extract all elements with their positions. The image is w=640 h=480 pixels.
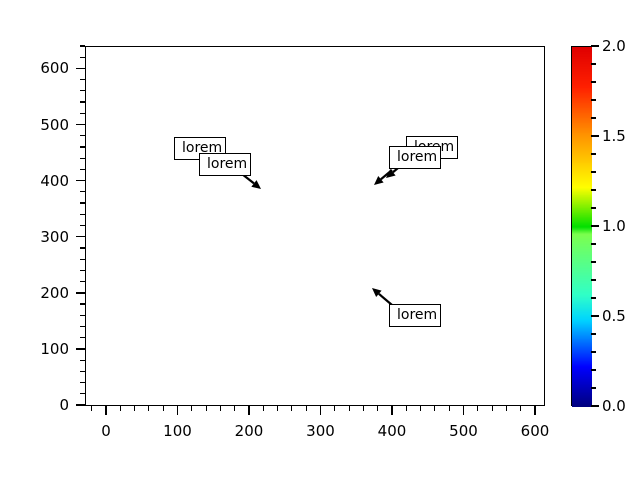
- colorbar-tick-minor: [591, 117, 596, 119]
- colorbar-tick-minor: [591, 351, 596, 353]
- y-tick-minor: [80, 303, 85, 304]
- colorbar-tick-minor: [591, 81, 596, 83]
- colorbar-tick-minor: [591, 189, 596, 191]
- x-tick-major: [177, 406, 179, 415]
- y-tick-minor: [80, 247, 85, 248]
- x-tick-minor: [134, 406, 135, 411]
- y-tick-minor: [80, 169, 85, 170]
- y-tick-minor: [80, 101, 85, 102]
- x-tick-major: [105, 406, 107, 415]
- colorbar-tick-major: [591, 45, 599, 47]
- y-tick-minor: [80, 281, 85, 282]
- colorbar-tick-label: 0.0: [602, 397, 626, 415]
- colorbar-tick-minor: [591, 261, 596, 263]
- y-tick-minor: [80, 45, 85, 46]
- y-tick-minor: [80, 382, 85, 383]
- y-tick-label: 100: [23, 340, 69, 358]
- x-tick-minor: [291, 406, 292, 411]
- x-tick-label: 300: [291, 422, 351, 440]
- x-tick-label: 0: [76, 422, 136, 440]
- y-tick-minor: [80, 225, 85, 226]
- y-tick-major: [76, 348, 85, 350]
- x-tick-minor: [120, 406, 121, 411]
- x-tick-minor: [492, 406, 493, 411]
- x-tick-major: [463, 406, 465, 415]
- x-tick-major: [391, 406, 393, 415]
- x-tick-major: [534, 406, 536, 415]
- x-tick-major: [320, 406, 322, 415]
- y-tick-label: 200: [23, 284, 69, 302]
- colorbar-tick-minor: [591, 207, 596, 209]
- x-tick-label: 600: [505, 422, 565, 440]
- y-tick-minor: [80, 315, 85, 316]
- x-tick-minor: [477, 406, 478, 411]
- colorbar-tick-minor: [591, 369, 596, 371]
- colorbar-tick-label: 1.0: [602, 217, 626, 235]
- y-tick-major: [76, 236, 85, 238]
- colorbar-tick-minor: [591, 63, 596, 65]
- y-tick-minor: [80, 113, 85, 114]
- colorbar-gradient: [572, 47, 592, 407]
- colorbar-tick-minor: [591, 153, 596, 155]
- y-tick-minor: [80, 202, 85, 203]
- x-tick-minor: [163, 406, 164, 411]
- colorbar-tick-minor: [591, 279, 596, 281]
- colorbar-tick-label: 0.5: [602, 307, 626, 325]
- y-tick-minor: [80, 79, 85, 80]
- plot-frame: [85, 46, 545, 406]
- y-tick-minor: [80, 214, 85, 215]
- x-tick-minor: [306, 406, 307, 411]
- x-tick-minor: [148, 406, 149, 411]
- x-tick-minor: [263, 406, 264, 411]
- x-tick-minor: [220, 406, 221, 411]
- figure-root: 0100200300400500600 0100200300400500600 …: [0, 0, 640, 480]
- y-tick-minor: [80, 393, 85, 394]
- x-tick-minor: [420, 406, 421, 411]
- y-tick-minor: [80, 360, 85, 361]
- annotation-callout[interactable]: lorem: [389, 304, 441, 327]
- x-tick-minor: [191, 406, 192, 411]
- x-tick-minor: [349, 406, 350, 411]
- y-tick-minor: [80, 135, 85, 136]
- y-tick-minor: [80, 90, 85, 91]
- y-tick-label: 500: [23, 116, 69, 134]
- x-tick-minor: [520, 406, 521, 411]
- y-tick-minor: [80, 337, 85, 338]
- colorbar-tick-minor: [591, 297, 596, 299]
- colorbar-tick-label: 2.0: [602, 37, 626, 55]
- colorbar-tick-label: 1.5: [602, 127, 626, 145]
- x-tick-label: 100: [148, 422, 208, 440]
- y-tick-major: [76, 292, 85, 294]
- colorbar-tick-minor: [591, 99, 596, 101]
- y-tick-minor: [80, 259, 85, 260]
- x-tick-minor: [277, 406, 278, 411]
- x-tick-minor: [206, 406, 207, 411]
- x-tick-major: [248, 406, 250, 415]
- colorbar: [571, 46, 591, 406]
- x-tick-label: 500: [434, 422, 494, 440]
- annotation-callout[interactable]: lorem: [199, 153, 251, 176]
- x-tick-minor: [449, 406, 450, 411]
- colorbar-tick-major: [591, 225, 599, 227]
- colorbar-tick-major: [591, 405, 599, 407]
- y-tick-label: 0: [23, 396, 69, 414]
- y-tick-label: 300: [23, 228, 69, 246]
- y-tick-minor: [80, 270, 85, 271]
- colorbar-tick-minor: [591, 333, 596, 335]
- x-tick-minor: [234, 406, 235, 411]
- y-tick-major: [76, 180, 85, 182]
- colorbar-tick-minor: [591, 171, 596, 173]
- annotation-callout[interactable]: lorem: [389, 146, 441, 169]
- y-tick-major: [76, 404, 85, 406]
- y-tick-minor: [80, 146, 85, 147]
- colorbar-tick-minor: [591, 387, 596, 389]
- y-tick-minor: [80, 326, 85, 327]
- colorbar-tick-major: [591, 135, 599, 137]
- y-tick-major: [76, 68, 85, 70]
- colorbar-tick-major: [591, 315, 599, 317]
- y-tick-minor: [80, 191, 85, 192]
- colorbar-tick-minor: [591, 243, 596, 245]
- y-tick-minor: [80, 57, 85, 58]
- y-tick-major: [76, 124, 85, 126]
- x-tick-minor: [434, 406, 435, 411]
- y-tick-label: 600: [23, 59, 69, 77]
- x-tick-minor: [363, 406, 364, 411]
- y-tick-minor: [80, 158, 85, 159]
- x-tick-minor: [91, 406, 92, 411]
- x-tick-minor: [506, 406, 507, 411]
- x-tick-minor: [334, 406, 335, 411]
- x-tick-label: 400: [362, 422, 422, 440]
- y-tick-label: 400: [23, 172, 69, 190]
- x-tick-minor: [406, 406, 407, 411]
- y-tick-minor: [80, 371, 85, 372]
- x-tick-label: 200: [219, 422, 279, 440]
- x-tick-minor: [377, 406, 378, 411]
